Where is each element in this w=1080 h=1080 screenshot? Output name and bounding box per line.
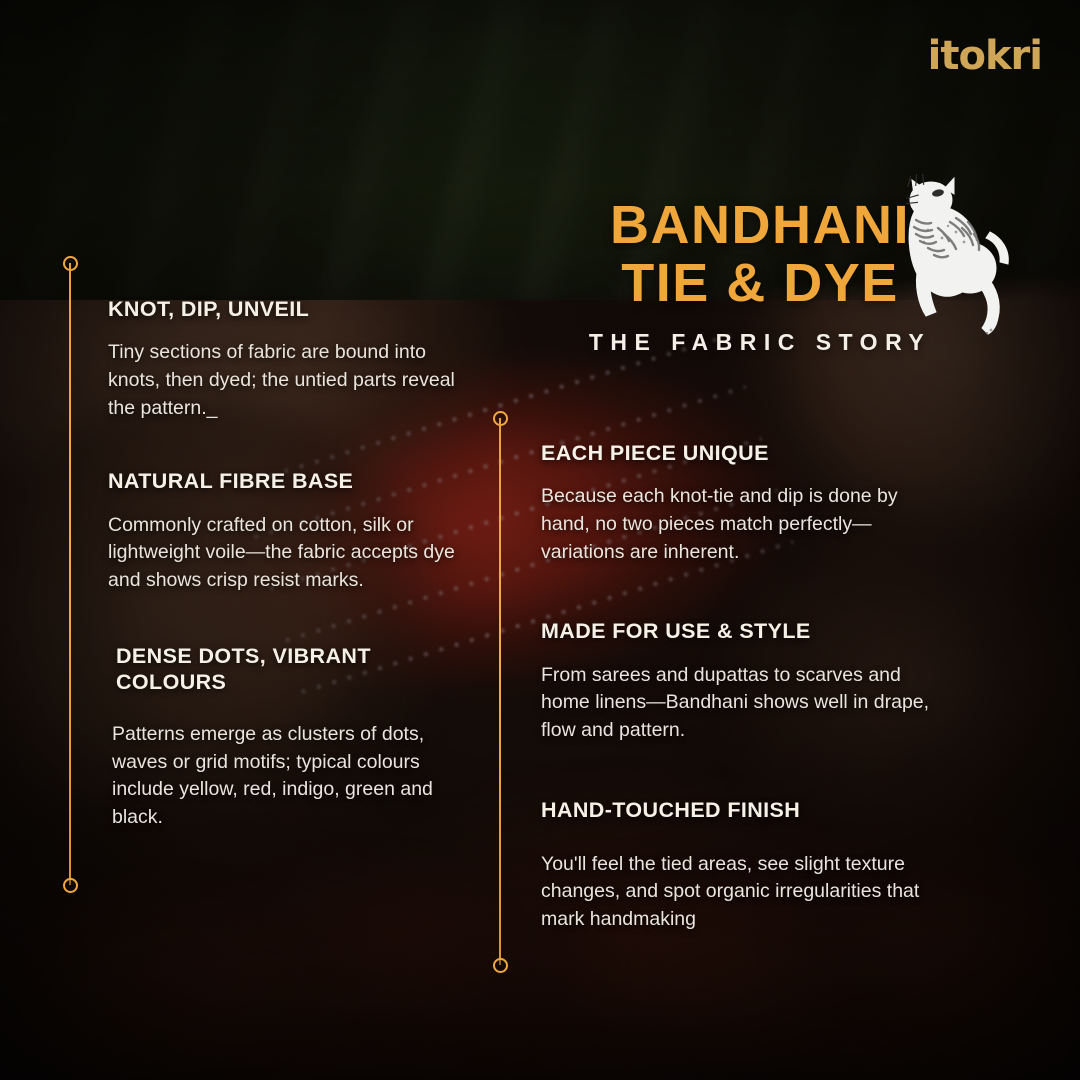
- left-text-column: KNOT, DIP, UNVEIL Tiny sections of fabri…: [108, 296, 468, 838]
- infographic-poster: itokri BANDHANI TIE & DYE THE FABRIC STO…: [0, 0, 1080, 1080]
- feature-block: NATURAL FIBRE BASE Commonly crafted on c…: [108, 468, 468, 594]
- feature-body: From sarees and dupattas to scarves and …: [541, 662, 941, 745]
- timeline-rail-left: [62, 263, 78, 885]
- feature-heading: HAND-TOUCHED FINISH: [541, 797, 941, 823]
- feature-heading: MADE FOR USE & STYLE: [541, 618, 941, 644]
- feature-block: KNOT, DIP, UNVEIL Tiny sections of fabri…: [108, 296, 468, 422]
- rail-line: [499, 418, 501, 965]
- rail-endpoint-dot-bottom: [493, 958, 508, 973]
- feature-block: HAND-TOUCHED FINISH You'll feel the tied…: [541, 797, 941, 934]
- feature-block: DENSE DOTS, VIBRANT COLOURS Patterns eme…: [108, 643, 468, 832]
- right-text-column: EACH PIECE UNIQUE Because each knot-tie …: [541, 440, 941, 940]
- feature-body: Tiny sections of fabric are bound into k…: [108, 339, 468, 422]
- feature-block: MADE FOR USE & STYLE From sarees and dup…: [541, 618, 941, 744]
- feature-heading: NATURAL FIBRE BASE: [108, 468, 468, 494]
- rail-endpoint-dot-bottom: [63, 878, 78, 893]
- feature-heading: EACH PIECE UNIQUE: [541, 440, 941, 466]
- feature-block: EACH PIECE UNIQUE Because each knot-tie …: [541, 440, 941, 566]
- feature-body: Commonly crafted on cotton, silk or ligh…: [108, 512, 468, 595]
- timeline-rail-right: [492, 418, 508, 965]
- poster-content: itokri BANDHANI TIE & DYE THE FABRIC STO…: [0, 0, 1080, 1080]
- feature-body: Patterns emerge as clusters of dots, wav…: [108, 721, 468, 832]
- feature-heading: KNOT, DIP, UNVEIL: [108, 296, 468, 322]
- feature-heading: DENSE DOTS, VIBRANT COLOURS: [108, 643, 468, 695]
- brand-logo[interactable]: itokri: [928, 36, 1042, 76]
- cat-illustration: [898, 172, 1018, 342]
- rail-line: [69, 263, 71, 885]
- feature-body: Because each knot-tie and dip is done by…: [541, 483, 941, 566]
- feature-body: You'll feel the tied areas, see slight t…: [541, 851, 941, 934]
